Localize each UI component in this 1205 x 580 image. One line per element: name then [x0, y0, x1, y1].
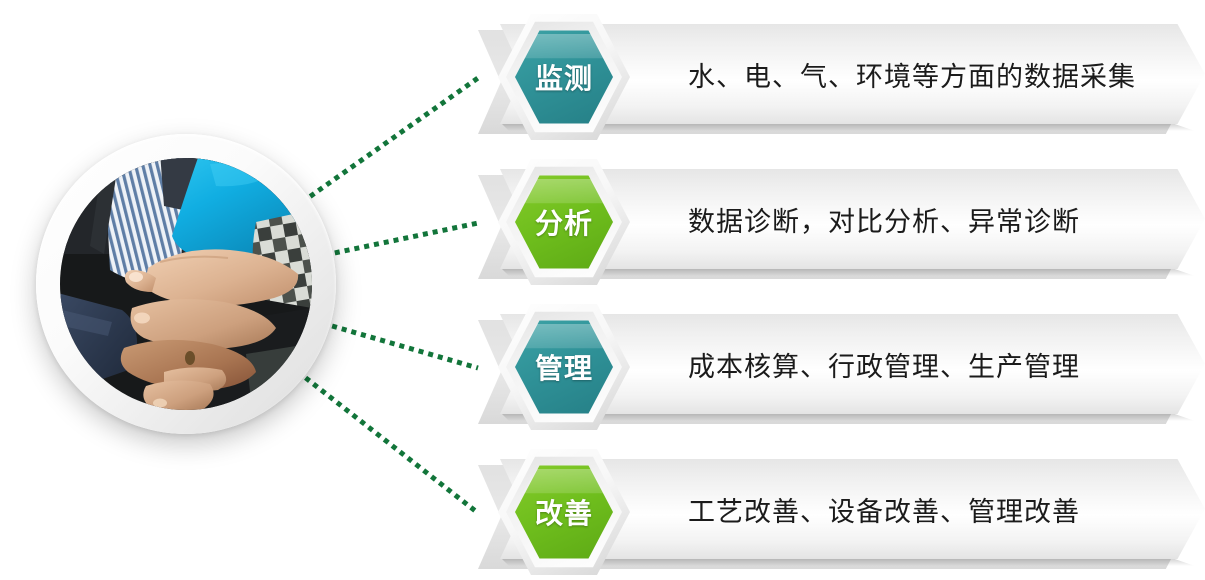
teamwork-photo [36, 134, 336, 434]
process-row-1[interactable]: 水、电、气、环境等方面的数据采集 监测 [460, 12, 1205, 142]
hexagon-badge[interactable]: 改善 [498, 447, 630, 577]
row-description: 工艺改善、设备改善、管理改善 [688, 459, 1080, 559]
hexagon-badge[interactable]: 分析 [498, 157, 630, 287]
photo-image [60, 158, 312, 410]
badge-label-监测: 监测 [498, 12, 630, 142]
badge-label-管理: 管理 [498, 302, 630, 432]
process-row-4[interactable]: 工艺改善、设备改善、管理改善 改善 [460, 447, 1205, 577]
infographic-canvas: 水、电、气、环境等方面的数据采集 监测 数据诊断，对比分析、异常诊断 分析 [0, 0, 1205, 580]
connector-line-2 [335, 223, 478, 253]
connector-line-3 [332, 326, 478, 368]
badge-label-分析: 分析 [498, 157, 630, 287]
process-row-2[interactable]: 数据诊断，对比分析、异常诊断 分析 [460, 157, 1205, 287]
row-description: 水、电、气、环境等方面的数据采集 [688, 24, 1136, 124]
badge-label-改善: 改善 [498, 447, 630, 577]
process-row-3[interactable]: 成本核算、行政管理、生产管理 管理 [460, 302, 1205, 432]
row-description: 数据诊断，对比分析、异常诊断 [688, 169, 1080, 269]
row-description: 成本核算、行政管理、生产管理 [688, 314, 1080, 414]
hexagon-badge[interactable]: 监测 [498, 12, 630, 142]
hexagon-badge[interactable]: 管理 [498, 302, 630, 432]
